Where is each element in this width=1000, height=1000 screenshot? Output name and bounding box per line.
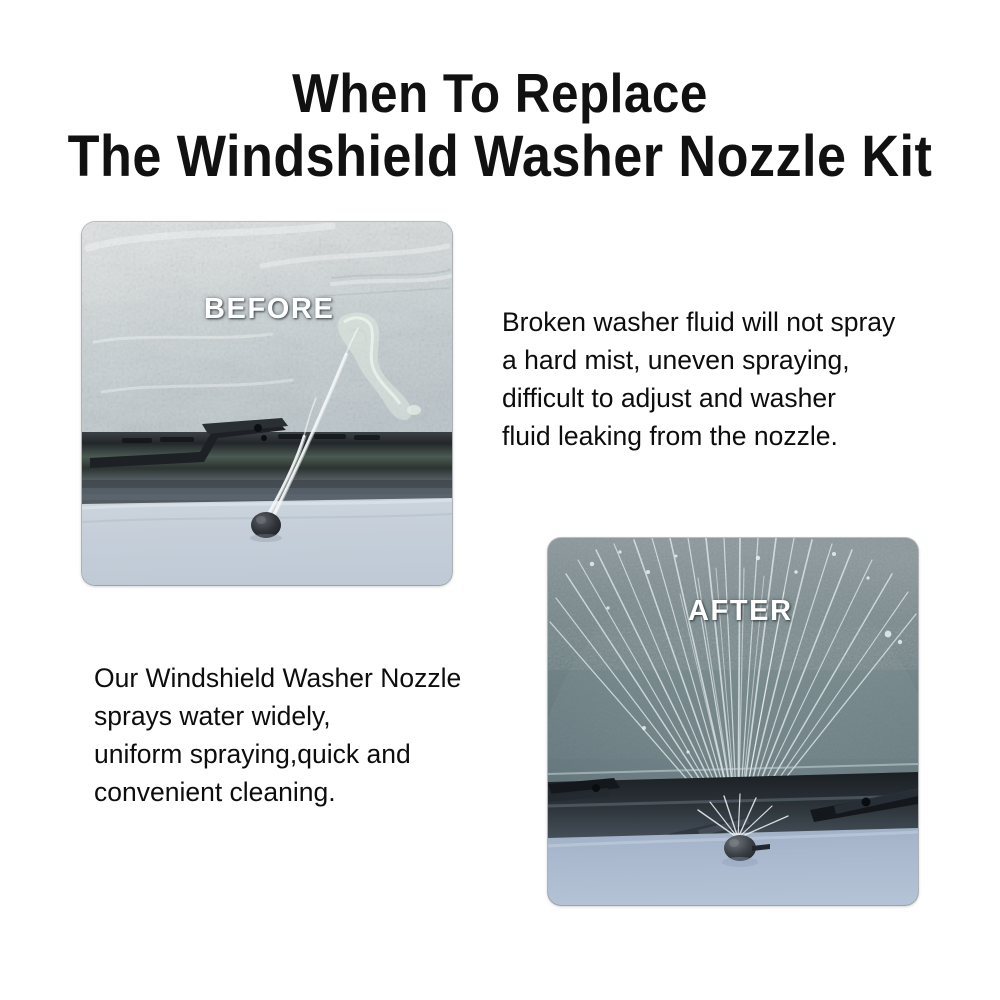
- infographic-canvas: When To Replace The Windshield Washer No…: [0, 0, 1000, 1000]
- page-title: When To Replace The Windshield Washer No…: [0, 62, 1000, 190]
- after-photo-illustration: [548, 538, 918, 905]
- after-caption: Our Windshield Washer Nozzle sprays wate…: [94, 659, 524, 811]
- before-photo: BEFORE: [82, 222, 452, 585]
- page-title-line-2: The Windshield Washer Nozzle Kit: [50, 124, 950, 190]
- after-photo: AFTER: [548, 538, 918, 905]
- before-caption: Broken washer fluid will not spray a har…: [502, 303, 962, 455]
- page-title-line-1: When To Replace: [50, 62, 950, 124]
- before-photo-illustration: [82, 222, 452, 585]
